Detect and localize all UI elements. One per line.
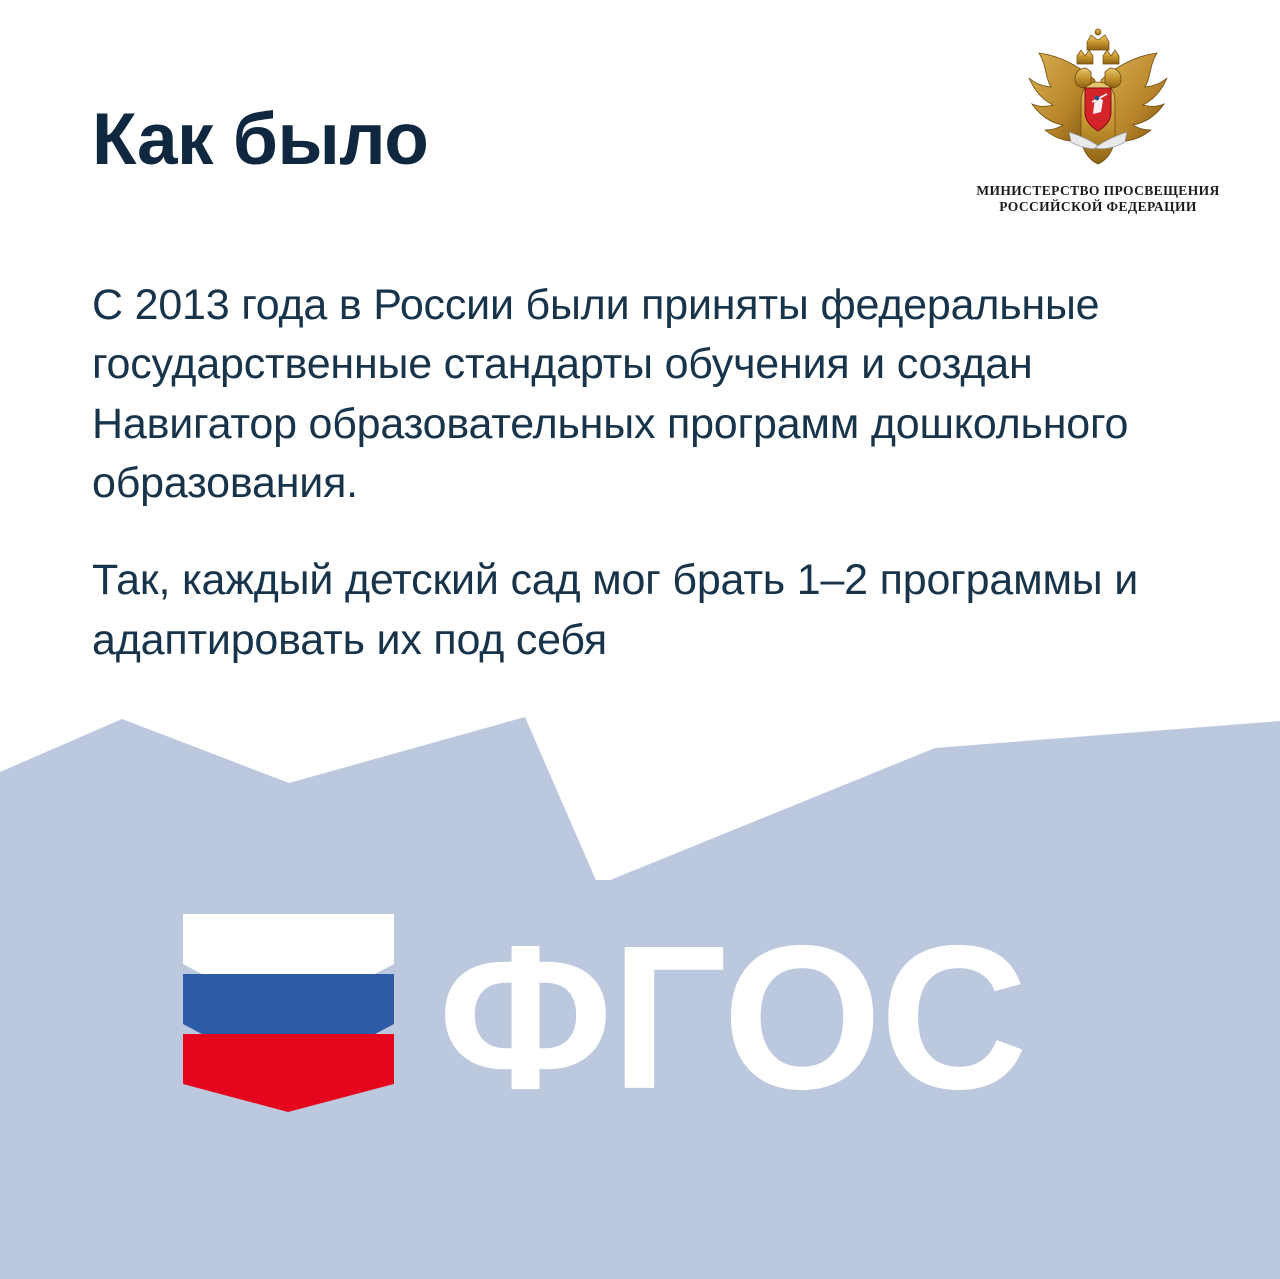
russian-double-headed-eagle-emblem-icon [1023, 26, 1173, 176]
body-paragraph-2: Так, каждый детский сад мог брать 1–2 пр… [92, 551, 1232, 670]
mountain-band-left-shape [0, 717, 598, 885]
body-copy: С 2013 года в России были приняты федера… [92, 276, 1232, 670]
russian-flag-chevron-mark-icon [183, 912, 394, 1112]
ministry-emblem-block: МИНИСТЕРСТВО ПРОСВЕЩЕНИЯ РОССИЙСКОЙ ФЕДЕ… [964, 26, 1232, 216]
fgos-wordmark: ФГОС [438, 938, 1026, 1098]
slide-canvas: МИНИСТЕРСТВО ПРОСВЕЩЕНИЯ РОССИЙСКОЙ ФЕДЕ… [0, 0, 1280, 1279]
body-paragraph-1: С 2013 года в России были приняты федера… [92, 276, 1232, 513]
fgos-logo-lockup: ФГОС [183, 912, 1026, 1112]
mountain-band-right-shape [598, 721, 1280, 885]
page-title: Как было [92, 102, 428, 179]
ministry-emblem-caption: МИНИСТЕРСТВО ПРОСВЕЩЕНИЯ РОССИЙСКОЙ ФЕДЕ… [964, 183, 1232, 216]
